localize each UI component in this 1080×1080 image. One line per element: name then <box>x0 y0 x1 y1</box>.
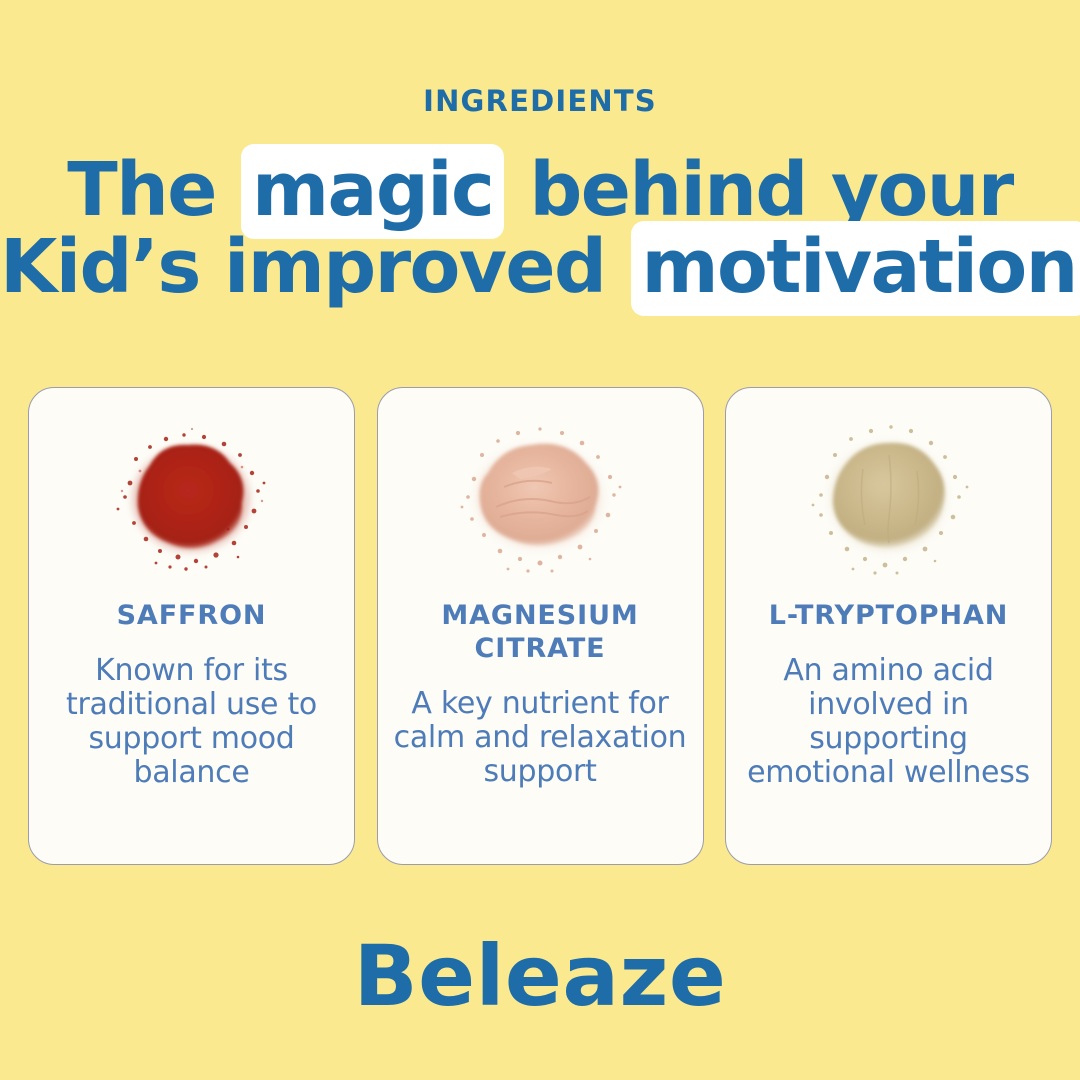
headline-line-2: Kid’s improved motivation <box>0 229 1080 306</box>
headline-line2-pre: Kid’s improved <box>0 224 630 310</box>
ingredient-card-l-tryptophan: L-TRYPTOPHAN An amino acid involved in s… <box>725 387 1052 865</box>
card-description-l-tryptophan: An amino acid involved in supporting emo… <box>742 654 1035 790</box>
card-title-saffron: SAFFRON <box>117 599 267 632</box>
card-title-l-tryptophan: L-TRYPTOPHAN <box>769 599 1009 632</box>
l-tryptophan-powder-image <box>784 418 994 583</box>
headline-line1-pre: The <box>67 147 240 233</box>
headline-line-1: The magic behind your <box>0 152 1080 229</box>
ingredient-card-list: SAFFRON Known for its traditional use to… <box>28 387 1052 865</box>
saffron-powder-graphic <box>92 421 292 581</box>
ingredient-card-magnesium-citrate: MAGNESIUM CITRATE A key nutrient for cal… <box>377 387 704 865</box>
page-title: The magic behind your Kid’s improved mot… <box>0 152 1080 306</box>
card-description-magnesium-citrate: A key nutrient for calm and relaxation s… <box>394 687 687 789</box>
card-description-saffron: Known for its traditional use to support… <box>45 654 338 790</box>
brand-logo-text: Beleaze <box>0 928 1080 1024</box>
magnesium-citrate-powder-image <box>435 418 645 583</box>
headline-highlight-motivation: motivation <box>631 221 1080 316</box>
card-title-magnesium-citrate: MAGNESIUM CITRATE <box>394 599 687 665</box>
magnesium-citrate-powder-graphic <box>440 421 640 581</box>
eyebrow-label: INGREDIENTS <box>0 84 1080 118</box>
saffron-powder-image <box>87 418 297 583</box>
ingredients-poster: INGREDIENTS The magic behind your Kid’s … <box>0 0 1080 1080</box>
l-tryptophan-powder-graphic <box>789 421 989 581</box>
ingredient-card-saffron: SAFFRON Known for its traditional use to… <box>28 387 355 865</box>
